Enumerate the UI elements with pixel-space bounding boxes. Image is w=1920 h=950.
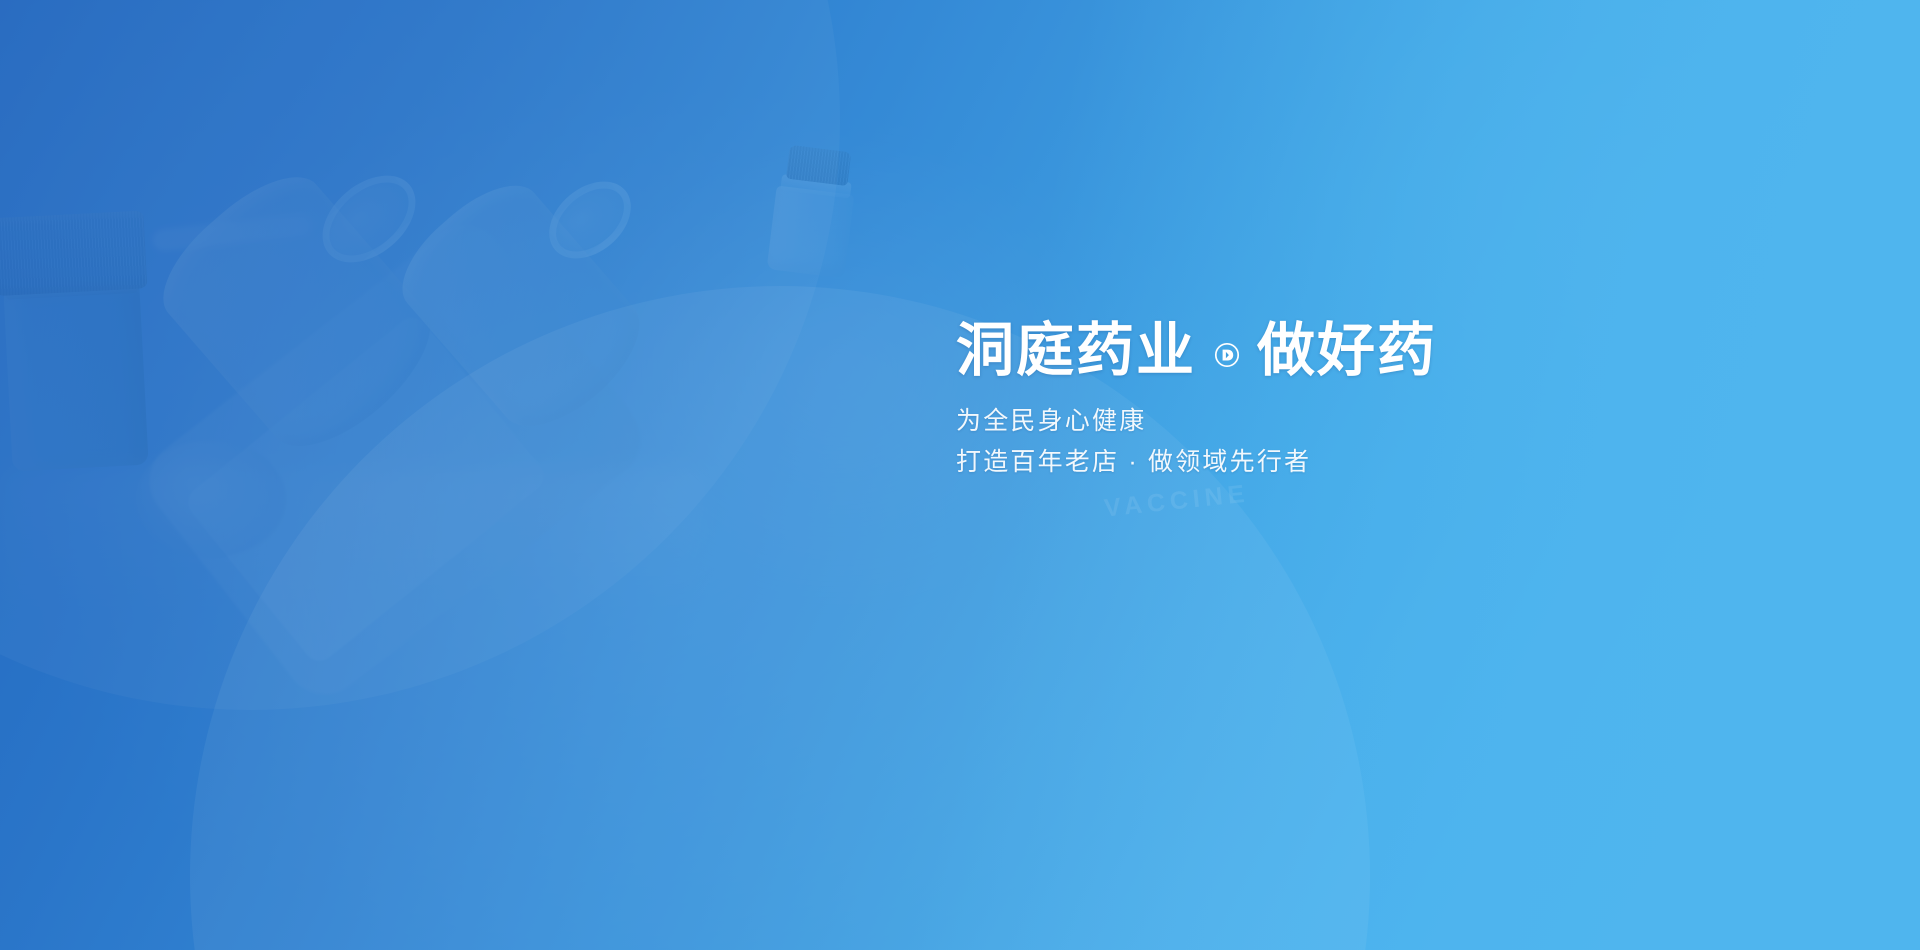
headline-company-name: 洞庭药业	[956, 320, 1196, 381]
subtitle-line-1: 为全民身心健康	[956, 401, 1756, 442]
hero-copy-block: 洞庭药业 做好药 为全民身心健康 打造百年老店 · 做领域先行者	[956, 320, 1756, 482]
page-title: 洞庭药业 做好药	[956, 320, 1756, 381]
circular-d-logo-icon	[1214, 342, 1240, 368]
headline-slogan: 做好药	[1257, 320, 1437, 381]
subtitle-line-2: 打造百年老店 · 做领域先行者	[956, 442, 1756, 483]
hero-subtitle: 为全民身心健康 打造百年老店 · 做领域先行者	[956, 401, 1756, 482]
hero-banner: VACCINE 洞庭药业 做好药 为全民身心健康 打造百年老店 · 做领域先行者	[0, 0, 1920, 950]
